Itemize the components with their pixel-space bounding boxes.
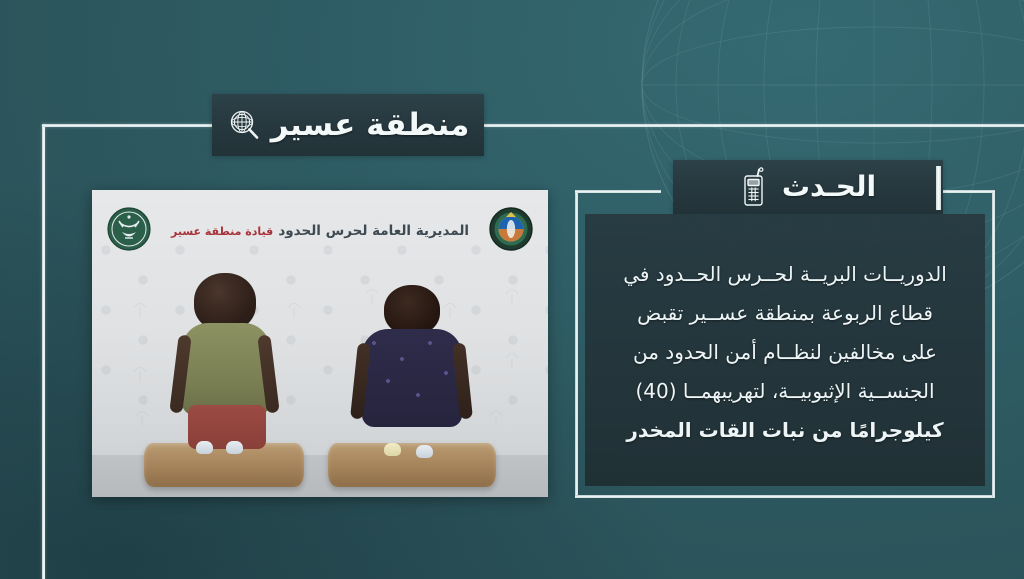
- detainee-right: [328, 273, 496, 471]
- banner-command-line: قيادة منطقة عسير: [171, 225, 273, 238]
- shoe-left-a: [196, 441, 213, 454]
- event-body-panel: الدوريــات البريــة لحــرس الحــدود في ق…: [585, 214, 985, 486]
- torso-left: [182, 323, 270, 415]
- shoe-right-b: [416, 445, 433, 458]
- shoe-right-a: [384, 443, 401, 456]
- news-card: منطقة عسير: [0, 0, 1024, 579]
- event-heading-label: الحـدث: [782, 173, 876, 201]
- handheld-radio-icon: [740, 167, 768, 207]
- event-line-1: الدوريــات البريــة لحــرس الحــدود في: [607, 255, 963, 294]
- border-guard-emblem-icon: [488, 206, 534, 252]
- page-title: منطقة عسير: [271, 110, 470, 141]
- panel-frame-left-top: [575, 190, 661, 193]
- frame-line-top-right: [477, 124, 1024, 127]
- photo-backdrop: المديرية العامة لحرس الحدود قيادة منطقة …: [92, 190, 548, 497]
- event-line-3: على مخالفين لنظــام أمن الحدود من: [607, 333, 963, 372]
- banner-text: المديرية العامة لحرس الحدود قيادة منطقة …: [152, 220, 488, 239]
- globe-search-icon: [227, 108, 261, 142]
- event-line-4: الجنســية الإثيوبيــة، لتهريبهمــا (40): [607, 372, 963, 411]
- incident-photo: المديرية العامة لحرس الحدود قيادة منطقة …: [92, 190, 548, 497]
- backdrop-banner: المديرية العامة لحرس الحدود قيادة منطقة …: [92, 198, 548, 260]
- banner-authority-line: المديرية العامة لحرس الحدود: [278, 223, 469, 239]
- region-title-block: منطقة عسير: [212, 94, 484, 156]
- event-line-5: كيلوجرامًا من نبات القات المخدر: [607, 411, 963, 450]
- detainee-left: [144, 273, 304, 471]
- event-heading-tick: [936, 166, 941, 210]
- event-description: الدوريــات البريــة لحــرس الحــدود في ق…: [607, 255, 963, 450]
- shoe-left-b: [226, 441, 243, 454]
- panel-frame-right: [992, 190, 995, 498]
- detainees-scene: [92, 272, 548, 497]
- torso-right: [362, 329, 462, 427]
- panel-frame-left: [575, 190, 578, 498]
- head-right: [384, 285, 440, 335]
- frame-line-left-horizontal: [42, 124, 214, 127]
- frame-line-left-vertical: [42, 124, 45, 579]
- event-line-2: قطاع الربوعة بمنطقة عســير تقبض: [607, 294, 963, 333]
- event-heading-block: الحـدث: [673, 160, 943, 214]
- panel-frame-bottom: [575, 495, 995, 498]
- ministry-of-interior-emblem-icon: [106, 206, 152, 252]
